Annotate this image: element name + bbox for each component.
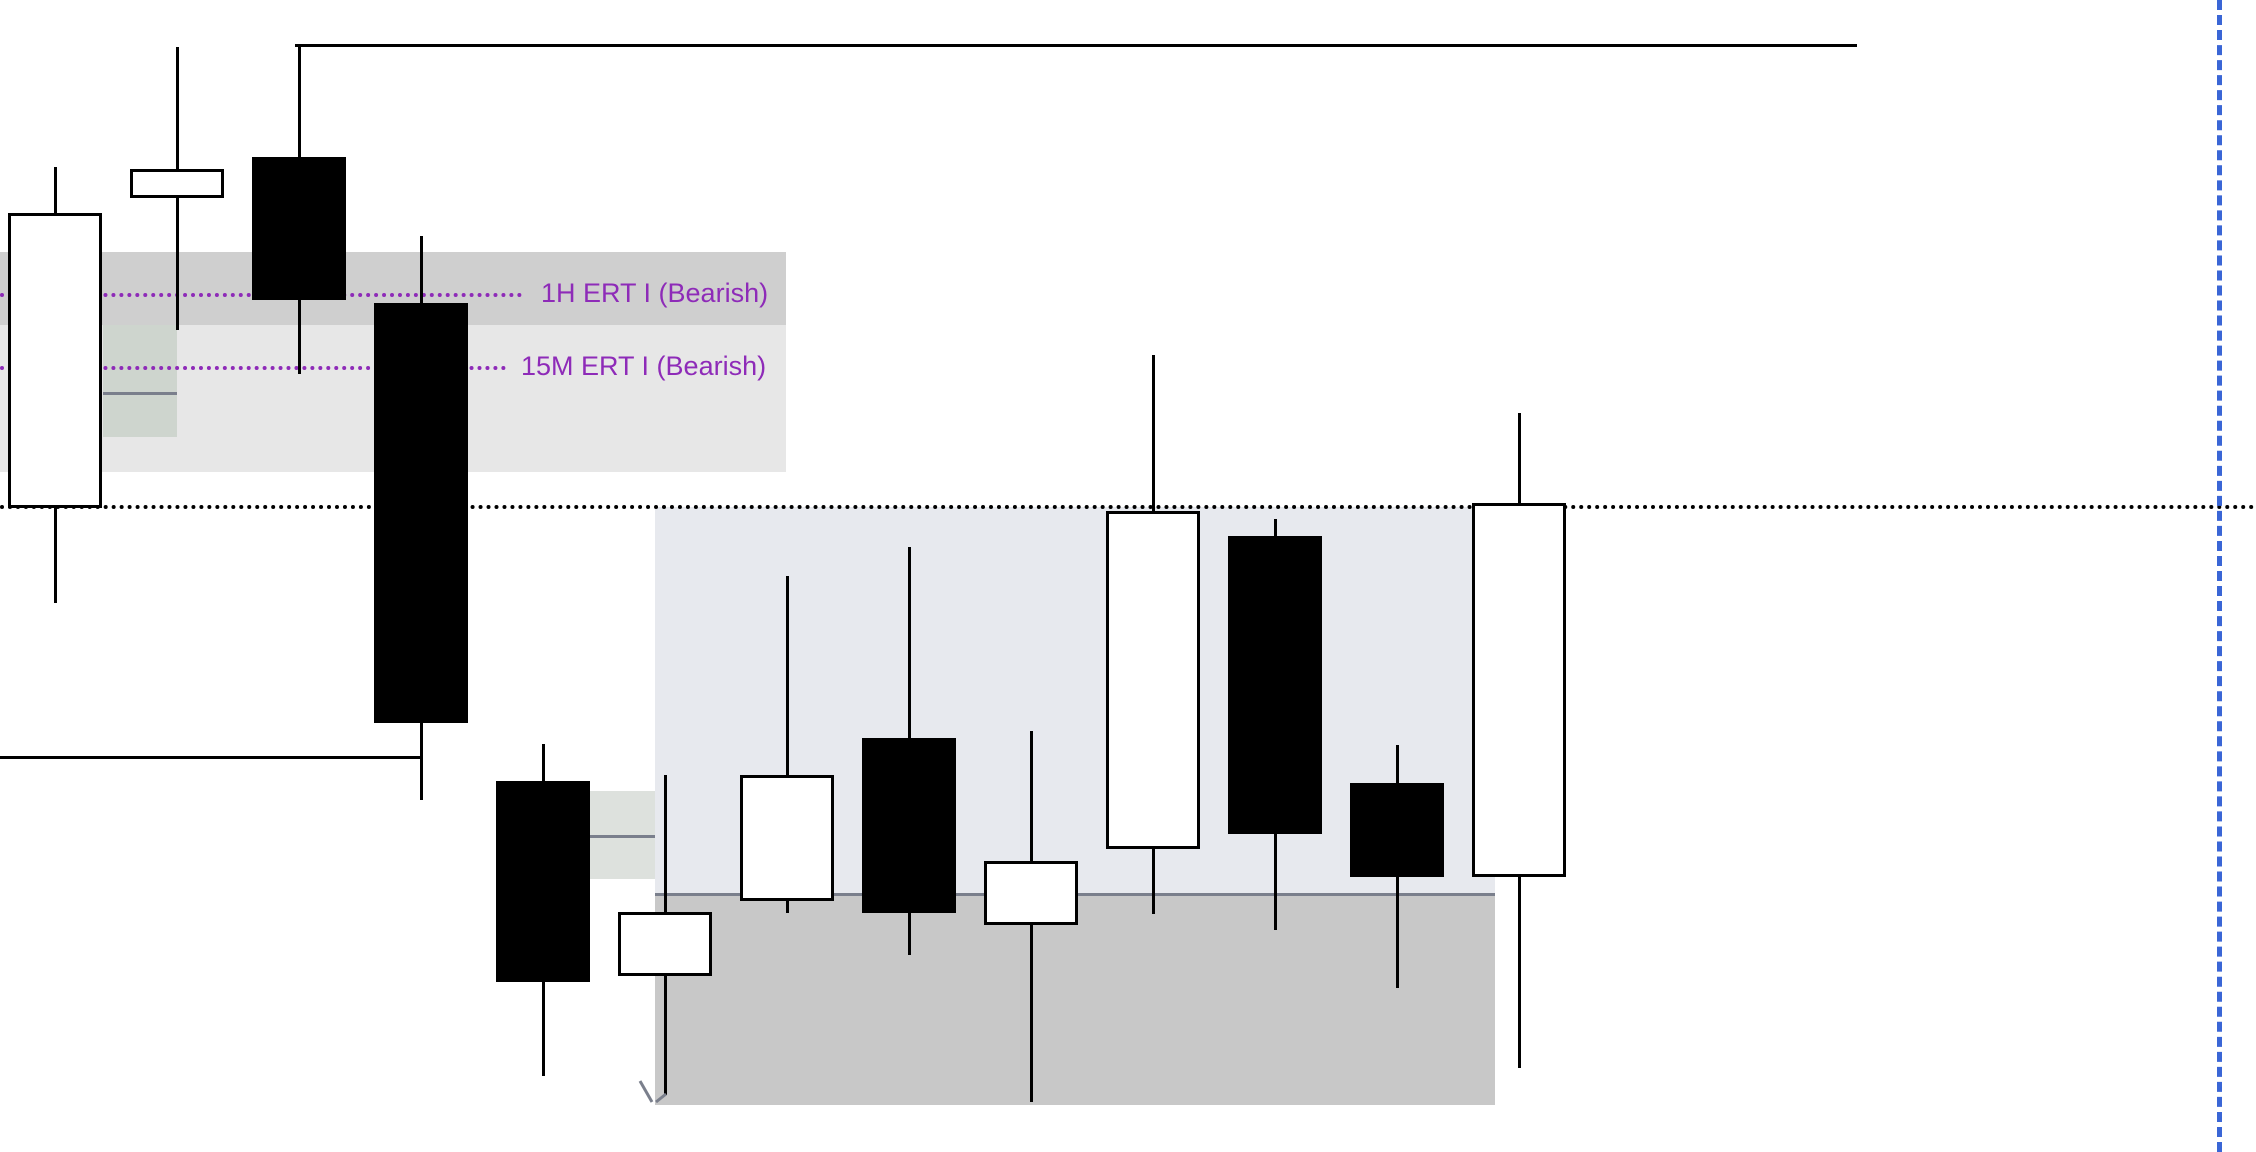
candlestick-chart-canvas[interactable]: 1H ERT I (Bearish) 15M ERT I (Bearish)	[0, 0, 2256, 1152]
candle-body-bull	[1106, 511, 1200, 849]
candle-body-bear	[252, 157, 346, 300]
candle-body-bear	[1228, 536, 1322, 834]
candle-body-bear	[374, 303, 468, 723]
candle-body-bull	[984, 861, 1078, 925]
level-label-1h-ert[interactable]: 1H ERT I (Bearish)	[541, 280, 768, 307]
candle-body-bull	[618, 912, 712, 976]
candle-body-bear	[1350, 783, 1444, 877]
candles-layer	[0, 0, 2256, 1152]
level-label-15m-ert[interactable]: 15M ERT I (Bearish)	[521, 353, 766, 380]
candle-body-bull	[1472, 503, 1566, 877]
candle-body-bull	[740, 775, 834, 901]
candle-body-bear	[862, 738, 956, 913]
zone-anchor-arrow-icon[interactable]	[638, 1080, 672, 1110]
candle-body-bull	[130, 169, 224, 198]
candle-body-bear	[496, 781, 590, 982]
candle-body-bull	[8, 213, 102, 508]
